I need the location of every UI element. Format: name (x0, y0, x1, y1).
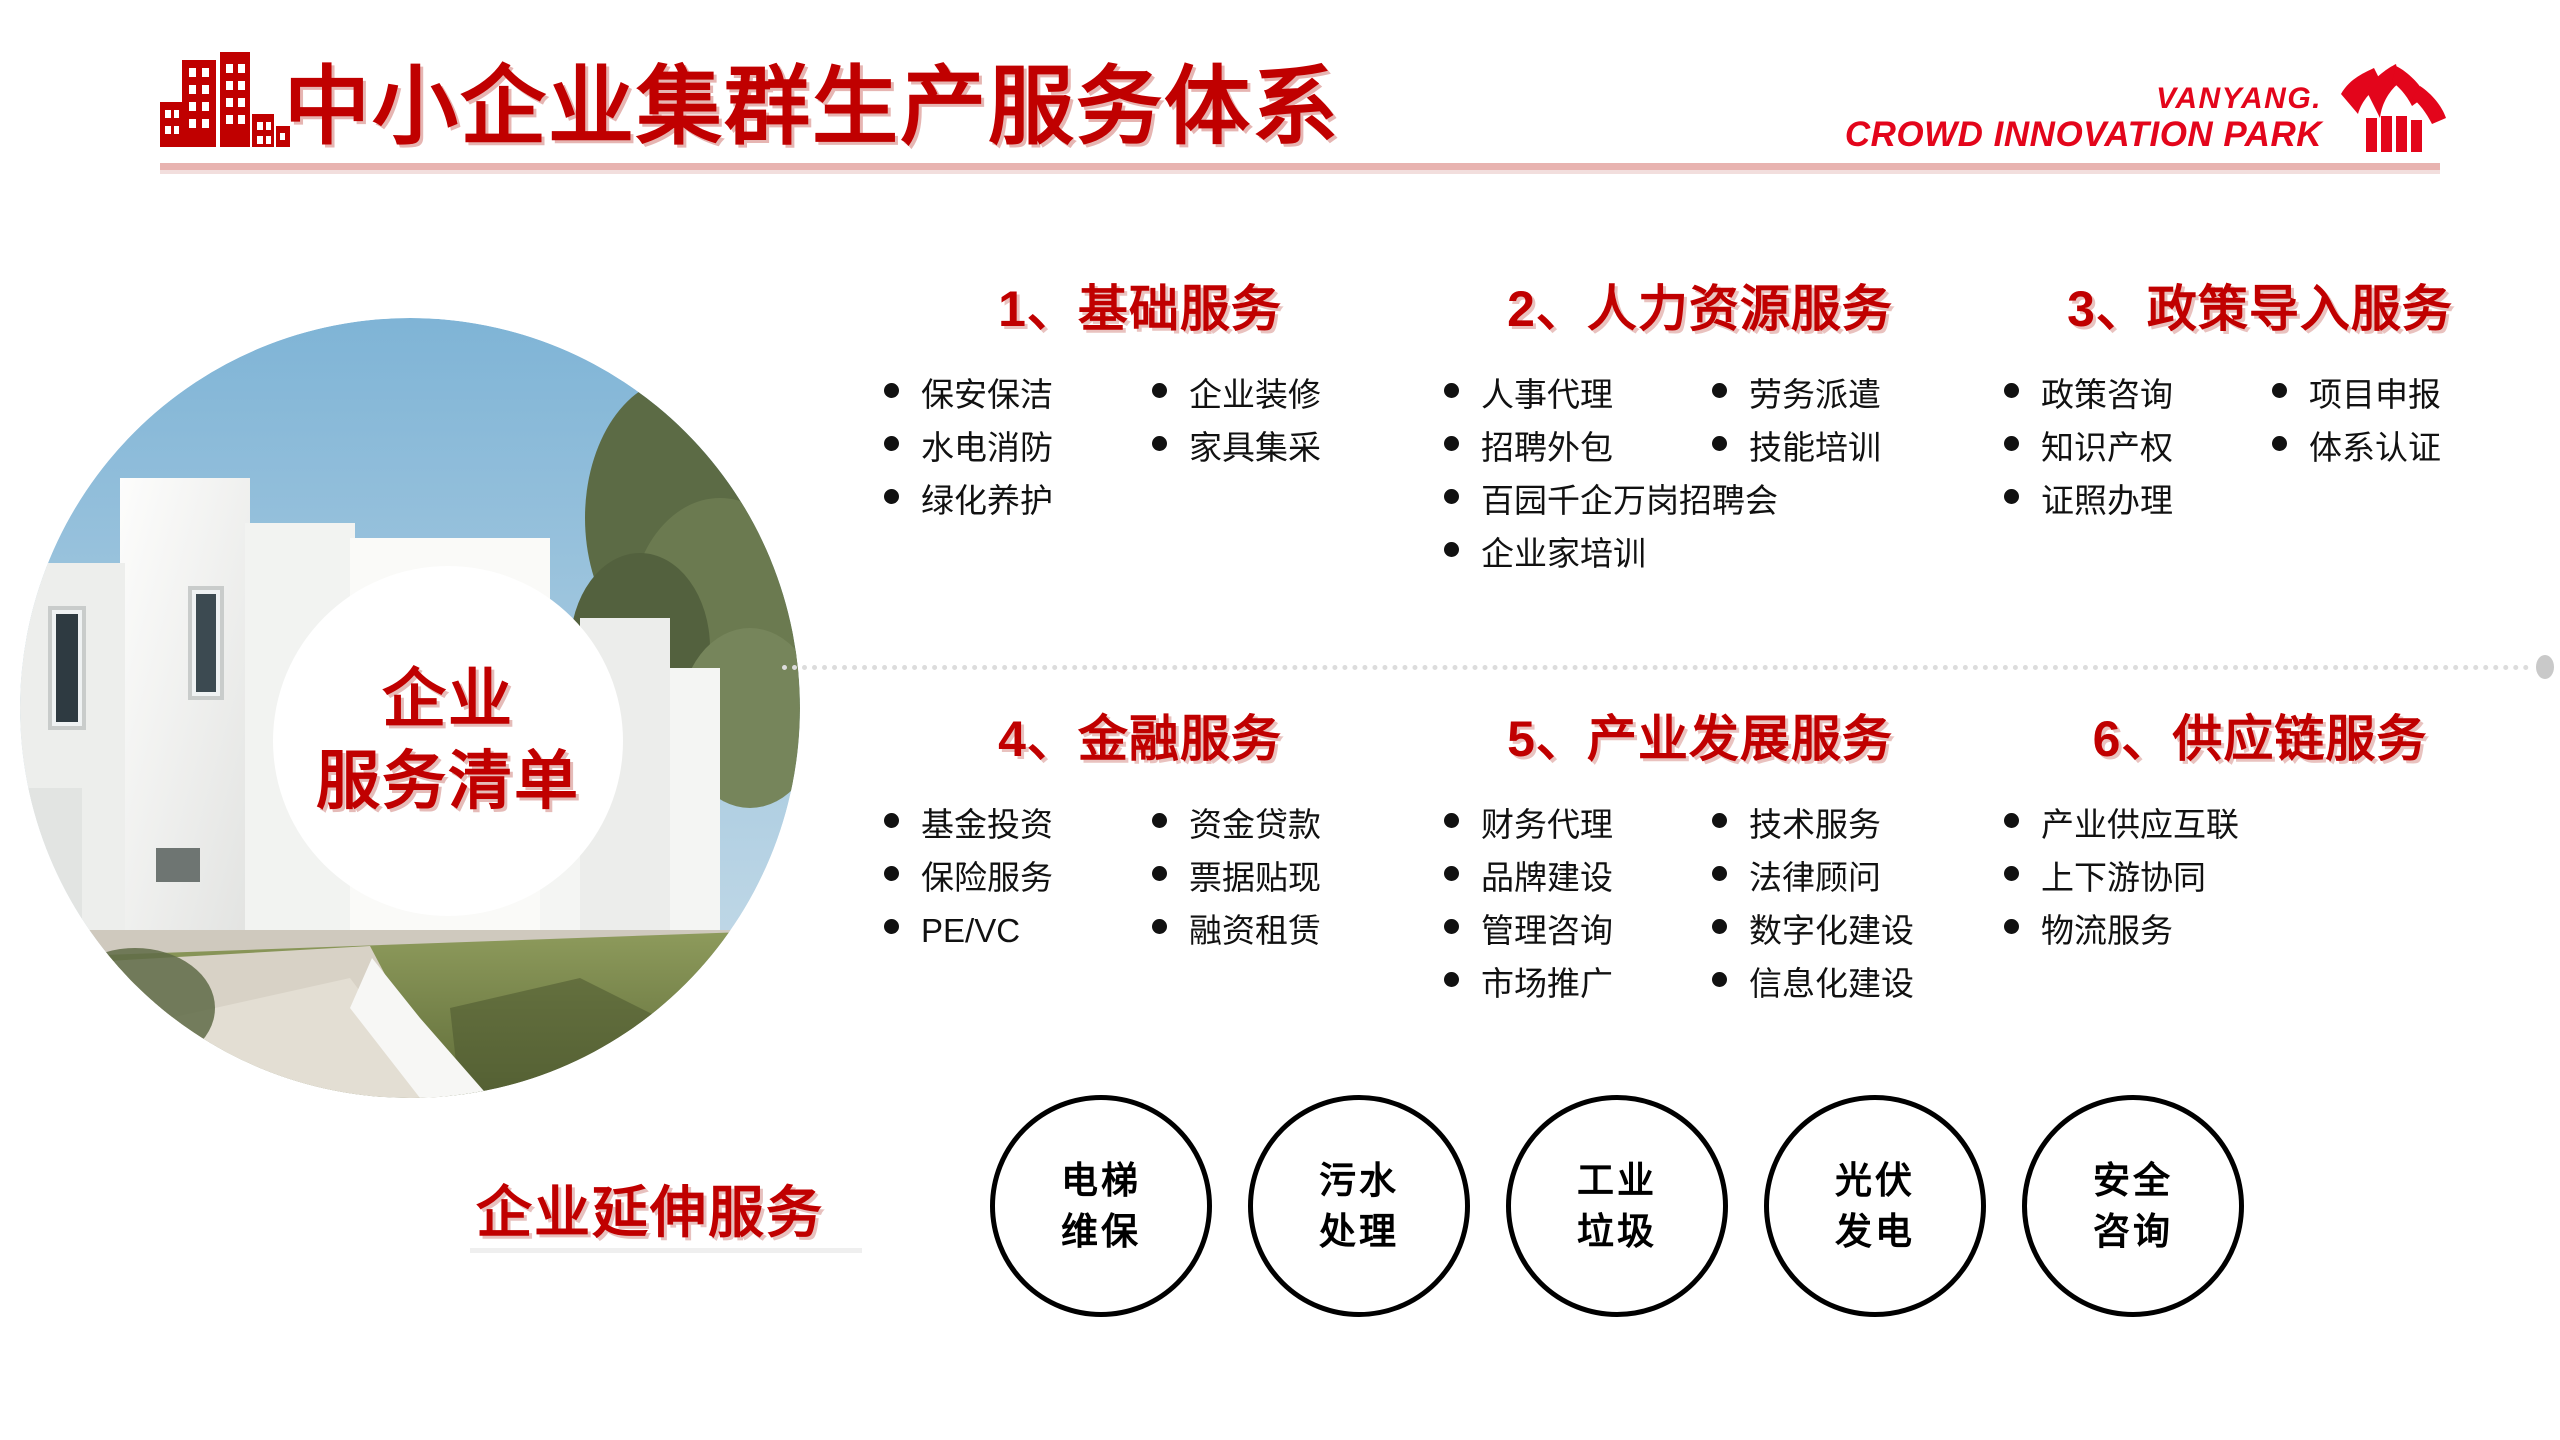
city-buildings-icon (160, 42, 290, 147)
section-heading-2: 2、人力资源服务 (1420, 278, 1980, 340)
section-2-left-column: 人事代理 招聘外包 (1444, 378, 1712, 484)
list-item: PE/VC (884, 914, 1152, 967)
list-item-label: 市场推广 (1481, 967, 1613, 1000)
section-4-left-column: 基金投资 保险服务 PE/VC (884, 808, 1152, 967)
list-item: 家具集采 (1152, 431, 1420, 484)
list-item-label: 基金投资 (921, 808, 1053, 841)
hero-label-line-2: 服务清单 (316, 741, 580, 823)
list-item-label: 法律顾问 (1749, 861, 1881, 894)
bullet-icon (2272, 383, 2287, 398)
service-section-2: 2、人力资源服务 人事代理 招聘外包 劳务派遣 技能培训 百园千企万岗招聘会 企… (1420, 278, 1980, 590)
list-item: 上下游协同 (2004, 861, 2540, 914)
bullet-icon (884, 383, 899, 398)
service-section-6: 6、供应链服务 产业供应互联 上下游协同 物流服务 (1980, 708, 2540, 967)
list-item: 知识产权 (2004, 431, 2272, 484)
list-item: 技术服务 (1712, 808, 1980, 861)
bullet-icon (1152, 813, 1167, 828)
list-item-label: 政策咨询 (2041, 378, 2173, 411)
bullet-icon (1444, 436, 1459, 451)
list-item: 水电消防 (884, 431, 1152, 484)
list-item-label: 品牌建设 (1481, 861, 1613, 894)
list-item: 融资租赁 (1152, 914, 1420, 967)
bullet-icon (1152, 383, 1167, 398)
list-item-label: 资金贷款 (1189, 808, 1321, 841)
section-5-right-column: 技术服务 法律顾问 数字化建设 信息化建设 (1712, 808, 1980, 1020)
list-item-label: 体系认证 (2309, 431, 2441, 464)
list-item-label: 数字化建设 (1749, 914, 1914, 947)
list-item: 技能培训 (1712, 431, 1980, 484)
section-1-left-column: 保安保洁 水电消防 绿化养护 (884, 378, 1152, 537)
list-item: 保安保洁 (884, 378, 1152, 431)
bullet-icon (1152, 919, 1167, 934)
section-2-right-column: 劳务派遣 技能培训 (1712, 378, 1980, 484)
bullet-icon (1712, 383, 1727, 398)
wheat-sheaf-logo-mark (2336, 60, 2448, 152)
list-item: 证照办理 (2004, 484, 2272, 537)
section-body-3: 政策咨询 知识产权 证照办理 项目申报 体系认证 (1980, 378, 2540, 537)
list-item: 财务代理 (1444, 808, 1712, 861)
list-item: 项目申报 (2272, 378, 2540, 431)
list-item-label: 融资租赁 (1189, 914, 1321, 947)
extended-circle-line-1: 电梯 (1061, 1155, 1141, 1206)
bullet-icon (2004, 866, 2019, 881)
extended-circle-sewage[interactable]: 污水 处理 (1248, 1095, 1470, 1317)
list-item-label: 家具集采 (1189, 431, 1321, 464)
bullet-icon (884, 919, 899, 934)
list-item: 数字化建设 (1712, 914, 1980, 967)
extended-circle-line-1: 安全 (2093, 1155, 2173, 1206)
bullet-icon (884, 813, 899, 828)
list-item: 绿化养护 (884, 484, 1152, 537)
list-item-label: 产业供应互联 (2041, 808, 2239, 841)
extended-circle-line-1: 污水 (1319, 1155, 1399, 1206)
list-item-label: 劳务派遣 (1749, 378, 1881, 411)
bullet-icon (1152, 436, 1167, 451)
section-6-left-column: 产业供应互联 上下游协同 物流服务 (2004, 808, 2540, 967)
section-body-6: 产业供应互联 上下游协同 物流服务 (1980, 808, 2540, 967)
list-item: 人事代理 (1444, 378, 1712, 431)
list-item: 劳务派遣 (1712, 378, 1980, 431)
list-item: 产业供应互联 (2004, 808, 2540, 861)
section-body-1: 保安保洁 水电消防 绿化养护 企业装修 家具集采 (860, 378, 1420, 537)
logo-line-vanyang: VANYANG. (1845, 84, 2322, 114)
section-5-left-column: 财务代理 品牌建设 管理咨询 市场推广 (1444, 808, 1712, 1020)
list-item-label: 水电消防 (921, 431, 1053, 464)
extended-circle-line-2: 处理 (1319, 1206, 1399, 1257)
bullet-icon (1712, 972, 1727, 987)
list-item: 物流服务 (2004, 914, 2540, 967)
bullet-icon (884, 436, 899, 451)
list-item-label: 技术服务 (1749, 808, 1881, 841)
section-heading-4: 4、金融服务 (860, 708, 1420, 770)
hero-photo-circle: 企业 服务清单 (20, 318, 800, 1098)
list-item: 资金贷款 (1152, 808, 1420, 861)
section-body-4: 基金投资 保险服务 PE/VC 资金贷款 票据贴现 融资租赁 (860, 808, 1420, 967)
section-heading-3: 3、政策导入服务 (1980, 278, 2540, 340)
extended-circle-line-1: 工业 (1577, 1155, 1657, 1206)
bullet-icon (2004, 436, 2019, 451)
list-item-label: 上下游协同 (2041, 861, 2206, 894)
bullet-icon (2004, 489, 2019, 504)
bullet-icon (1444, 972, 1459, 987)
list-item-label: 财务代理 (1481, 808, 1613, 841)
list-item-label: 招聘外包 (1481, 431, 1613, 464)
list-item-label: 知识产权 (2041, 431, 2173, 464)
extended-circle-line-2: 咨询 (2093, 1206, 2173, 1257)
extended-services-circles: 电梯 维保 污水 处理 工业 垃圾 光伏 发电 安全 咨询 (990, 1095, 2244, 1317)
hero-inner-circle: 企业 服务清单 (273, 566, 623, 916)
header-rule-secondary (160, 170, 2440, 174)
bullet-icon (2272, 436, 2287, 451)
bullet-icon (1444, 813, 1459, 828)
section-2-wide-column: 百园千企万岗招聘会 企业家培训 (1444, 484, 1980, 590)
list-item-label: 企业家培训 (1481, 537, 1646, 570)
bullet-icon (884, 866, 899, 881)
title-block: 中小企业集群生产服务体系 (160, 42, 1340, 149)
extended-circle-photovoltaic[interactable]: 光伏 发电 (1764, 1095, 1986, 1317)
list-item: 保险服务 (884, 861, 1152, 914)
extended-circle-safety-consulting[interactable]: 安全 咨询 (2022, 1095, 2244, 1317)
section-heading-5: 5、产业发展服务 (1420, 708, 1980, 770)
list-item-label: 保险服务 (921, 861, 1053, 894)
list-item: 信息化建设 (1712, 967, 1980, 1020)
service-section-5: 5、产业发展服务 财务代理 品牌建设 管理咨询 市场推广 技术服务 法律顾问 数… (1420, 708, 1980, 1020)
extended-services-label: 企业延伸服务 (476, 1168, 824, 1249)
brand-logo: VANYANG. CROWD INNOVATION PARK (1845, 60, 2448, 152)
logo-text: VANYANG. CROWD INNOVATION PARK (1845, 84, 2322, 152)
logo-line-crowd-innovation-park: CROWD INNOVATION PARK (1845, 117, 2322, 152)
bullet-icon (1444, 489, 1459, 504)
list-item-label: 保安保洁 (921, 378, 1053, 411)
section-3-left-column: 政策咨询 知识产权 证照办理 (2004, 378, 2272, 537)
section-heading-6: 6、供应链服务 (1980, 708, 2540, 770)
services-grid: 1、基础服务 保安保洁 水电消防 绿化养护 企业装修 家具集采 2、人力资源服务… (860, 278, 2540, 1078)
section-1-right-column: 企业装修 家具集采 (1152, 378, 1420, 537)
list-item: 管理咨询 (1444, 914, 1712, 967)
bullet-icon (1712, 436, 1727, 451)
list-item-label: 企业装修 (1189, 378, 1321, 411)
list-item: 企业家培训 (1444, 537, 1980, 590)
extended-services-underline (470, 1248, 862, 1253)
list-item-label: 人事代理 (1481, 378, 1613, 411)
list-item-label: 证照办理 (2041, 484, 2173, 517)
service-section-1: 1、基础服务 保安保洁 水电消防 绿化养护 企业装修 家具集采 (860, 278, 1420, 537)
list-item-label: 信息化建设 (1749, 967, 1914, 1000)
extended-circle-industrial-waste[interactable]: 工业 垃圾 (1506, 1095, 1728, 1317)
list-item: 政策咨询 (2004, 378, 2272, 431)
list-item: 品牌建设 (1444, 861, 1712, 914)
extended-circle-line-2: 发电 (1835, 1206, 1915, 1257)
list-item-label: 百园千企万岗招聘会 (1481, 484, 1778, 517)
page-title: 中小企业集群生产服务体系 (284, 66, 1340, 149)
list-item-label: 票据贴现 (1189, 861, 1321, 894)
bullet-icon (1712, 919, 1727, 934)
list-item: 体系认证 (2272, 431, 2540, 484)
header-rule (160, 163, 2440, 170)
bullet-icon (1712, 866, 1727, 881)
bullet-icon (1712, 813, 1727, 828)
list-item: 百园千企万岗招聘会 (1444, 484, 1980, 537)
page-header: 中小企业集群生产服务体系 VANYANG. CROWD INNOVATION P… (0, 0, 2560, 185)
list-item: 企业装修 (1152, 378, 1420, 431)
bullet-icon (2004, 383, 2019, 398)
list-item-label: 绿化养护 (921, 484, 1053, 517)
bullet-icon (1444, 542, 1459, 557)
list-item-label: 项目申报 (2309, 378, 2441, 411)
section-3-right-column: 项目申报 体系认证 (2272, 378, 2540, 537)
list-item: 基金投资 (884, 808, 1152, 861)
list-item: 法律顾问 (1712, 861, 1980, 914)
bullet-icon (1152, 866, 1167, 881)
extended-circle-line-1: 光伏 (1835, 1155, 1915, 1206)
section-heading-1: 1、基础服务 (860, 278, 1420, 340)
bullet-icon (1444, 383, 1459, 398)
extended-circle-line-2: 维保 (1061, 1206, 1141, 1257)
bullet-icon (2004, 813, 2019, 828)
service-section-4: 4、金融服务 基金投资 保险服务 PE/VC 资金贷款 票据贴现 融资租赁 (860, 708, 1420, 967)
bullet-icon (884, 489, 899, 504)
bullet-icon (1444, 919, 1459, 934)
extended-circle-line-2: 垃圾 (1577, 1206, 1657, 1257)
service-section-3: 3、政策导入服务 政策咨询 知识产权 证照办理 项目申报 体系认证 (1980, 278, 2540, 537)
list-item-label: 管理咨询 (1481, 914, 1613, 947)
bullet-icon (2004, 919, 2019, 934)
section-body-5: 财务代理 品牌建设 管理咨询 市场推广 技术服务 法律顾问 数字化建设 信息化建… (1420, 808, 1980, 1020)
list-item-label: 物流服务 (2041, 914, 2173, 947)
list-item: 招聘外包 (1444, 431, 1712, 484)
extended-circle-elevator[interactable]: 电梯 维保 (990, 1095, 1212, 1317)
list-item: 市场推广 (1444, 967, 1712, 1020)
hero-label-line-1: 企业 (382, 659, 514, 741)
list-item: 票据贴现 (1152, 861, 1420, 914)
list-item-label: 技能培训 (1749, 431, 1881, 464)
section-4-right-column: 资金贷款 票据贴现 融资租赁 (1152, 808, 1420, 967)
list-item-label: PE/VC (921, 914, 1020, 947)
bullet-icon (1444, 866, 1459, 881)
section-body-2: 人事代理 招聘外包 劳务派遣 技能培训 百园千企万岗招聘会 企业家培训 (1420, 378, 1980, 590)
